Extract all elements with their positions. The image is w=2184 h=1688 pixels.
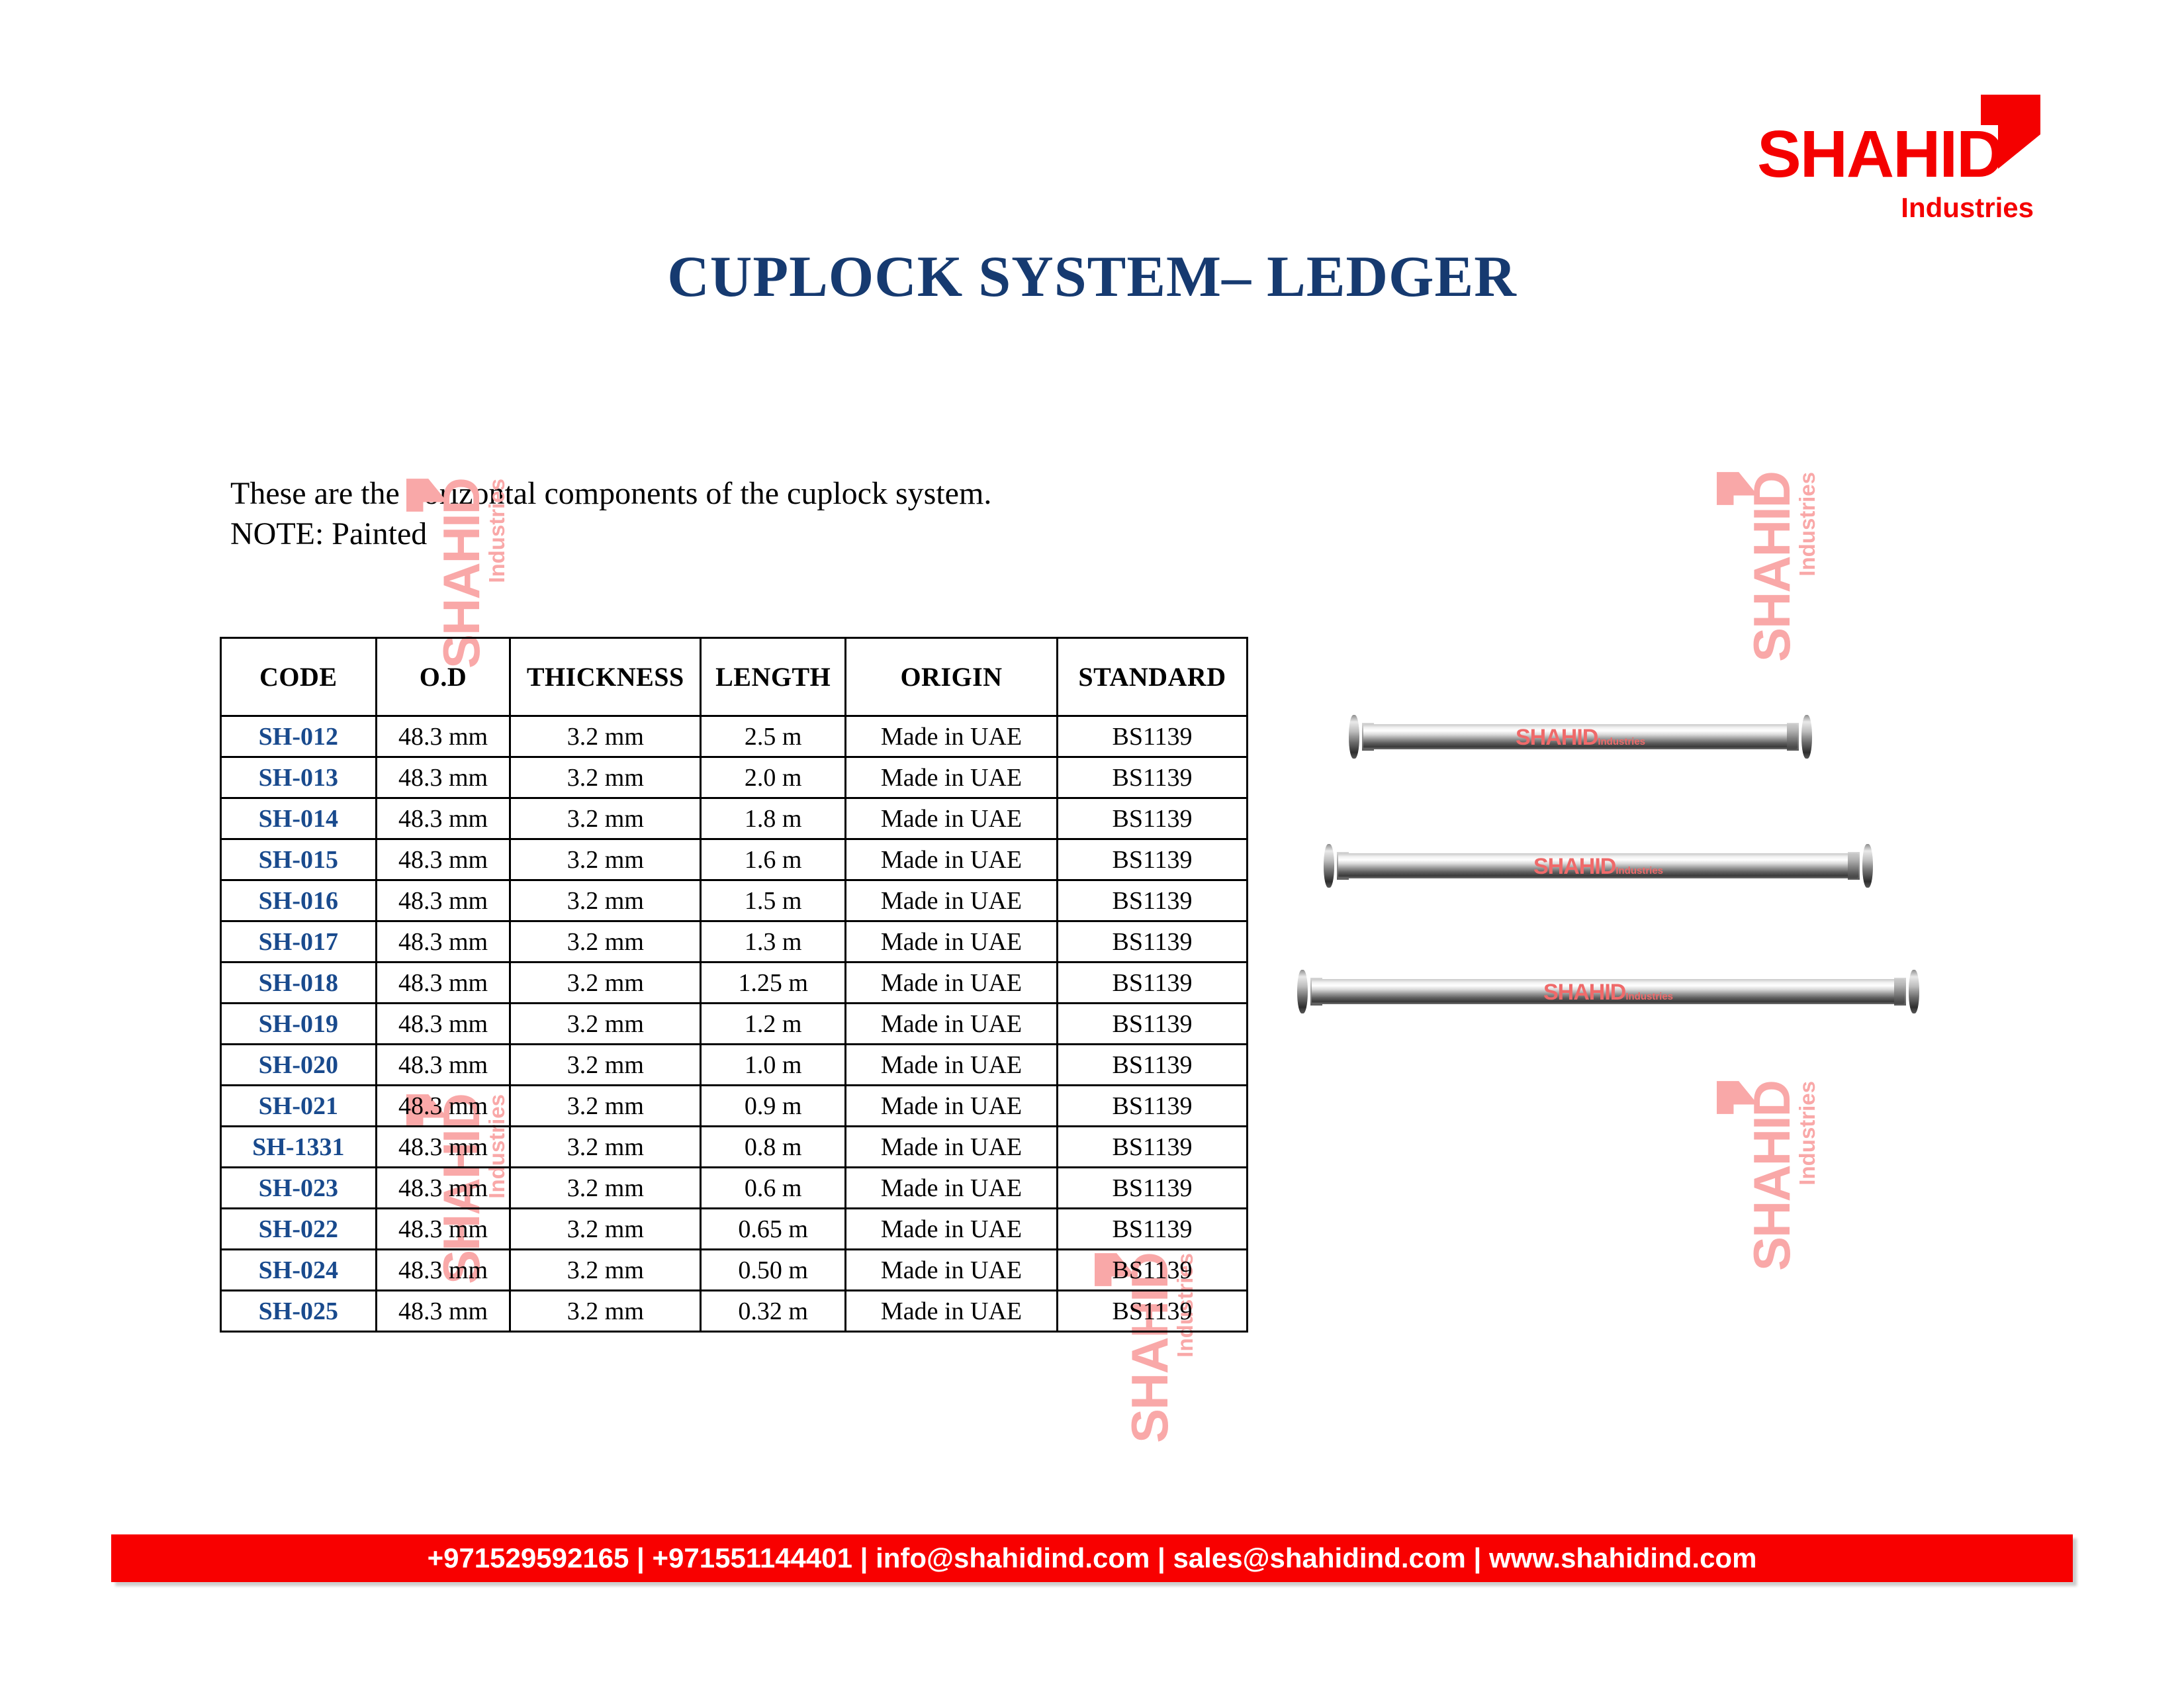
standard-cell: BS1139 [1058, 1045, 1248, 1086]
table-row: SH-01248.3 mm3.2 mm2.5 mMade in UAEBS113… [221, 716, 1248, 757]
table-header-row: CODE O.D THICKNESS LENGTH ORIGIN STANDAR… [221, 638, 1248, 716]
origin-cell: Made in UAE [846, 757, 1058, 798]
standard-cell: BS1139 [1058, 798, 1248, 839]
watermark-wordmark: SHAHID [1747, 472, 1796, 662]
od-cell: 48.3 mm [376, 1168, 510, 1209]
od-cell: 48.3 mm [376, 880, 510, 921]
thickness-cell: 3.2 mm [510, 757, 701, 798]
origin-cell: Made in UAE [846, 1045, 1058, 1086]
length-cell: 0.9 m [701, 1086, 846, 1127]
origin-cell: Made in UAE [846, 798, 1058, 839]
standard-cell: BS1139 [1058, 921, 1248, 962]
product-image-ledger-short: SHAHIDIndustries [1349, 715, 1812, 760]
od-cell: 48.3 mm [376, 1209, 510, 1250]
code-cell: SH-014 [221, 798, 377, 839]
thickness-cell: 3.2 mm [510, 798, 701, 839]
code-cell: SH-018 [221, 962, 377, 1004]
ledger-end-cap-left [1297, 970, 1308, 1013]
table-body: SH-01248.3 mm3.2 mm2.5 mMade in UAEBS113… [221, 716, 1248, 1332]
ledger-collar-right [1787, 723, 1799, 751]
table-row: SH-02248.3 mm3.2 mm0.65 mMade in UAEBS11… [221, 1209, 1248, 1250]
standard-cell: BS1139 [1058, 1086, 1248, 1127]
thickness-cell: 3.2 mm [510, 716, 701, 757]
column-header-origin: ORIGIN [846, 638, 1058, 716]
code-cell: SH-019 [221, 1004, 377, 1045]
thickness-cell: 3.2 mm [510, 880, 701, 921]
intro-text: These are the horizontal components of t… [230, 473, 991, 555]
origin-cell: Made in UAE [846, 839, 1058, 880]
product-image-group: SHAHIDIndustriesSHAHIDIndustriesSHAHIDIn… [1297, 715, 2091, 1112]
column-header-standard: STANDARD [1058, 638, 1248, 716]
table-row: SH-01848.3 mm3.2 mm1.25 mMade in UAEBS11… [221, 962, 1248, 1004]
length-cell: 1.5 m [701, 880, 846, 921]
contact-footer-bar: +971529592165 | +971551144401 | info@sha… [111, 1534, 2073, 1582]
length-cell: 1.8 m [701, 798, 846, 839]
ledger-collar-right [1894, 978, 1906, 1006]
origin-cell: Made in UAE [846, 1004, 1058, 1045]
ledger-end-cap-right [1862, 844, 1873, 888]
thickness-cell: 3.2 mm [510, 1291, 701, 1332]
length-cell: 0.8 m [701, 1127, 846, 1168]
ledger-end-cap-left [1349, 715, 1359, 759]
table-row: SH-01548.3 mm3.2 mm1.6 mMade in UAEBS113… [221, 839, 1248, 880]
logo-wordmark: SHAHID [1757, 121, 2003, 187]
column-header-thickness: THICKNESS [510, 638, 701, 716]
thickness-cell: 3.2 mm [510, 839, 701, 880]
contact-footer-text: +971529592165 | +971551144401 | info@sha… [428, 1542, 1757, 1574]
code-cell: SH-1331 [221, 1127, 377, 1168]
thickness-cell: 3.2 mm [510, 1086, 701, 1127]
standard-cell: BS1139 [1058, 1209, 1248, 1250]
table-row: SH-02548.3 mm3.2 mm0.32 mMade in UAEBS11… [221, 1291, 1248, 1332]
thickness-cell: 3.2 mm [510, 1004, 701, 1045]
od-cell: 48.3 mm [376, 1086, 510, 1127]
table-row: SH-01748.3 mm3.2 mm1.3 mMade in UAEBS113… [221, 921, 1248, 962]
standard-cell: BS1139 [1058, 1127, 1248, 1168]
code-cell: SH-013 [221, 757, 377, 798]
code-cell: SH-016 [221, 880, 377, 921]
length-cell: 1.2 m [701, 1004, 846, 1045]
origin-cell: Made in UAE [846, 1250, 1058, 1291]
thickness-cell: 3.2 mm [510, 962, 701, 1004]
origin-cell: Made in UAE [846, 962, 1058, 1004]
thickness-cell: 3.2 mm [510, 1250, 701, 1291]
table-row: SH-01348.3 mm3.2 mm2.0 mMade in UAEBS113… [221, 757, 1248, 798]
length-cell: 0.32 m [701, 1291, 846, 1332]
od-cell: 48.3 mm [376, 757, 510, 798]
thickness-cell: 3.2 mm [510, 1045, 701, 1086]
origin-cell: Made in UAE [846, 1086, 1058, 1127]
length-cell: 0.65 m [701, 1209, 846, 1250]
product-image-ledger-long: SHAHIDIndustries [1297, 970, 1919, 1015]
code-cell: SH-015 [221, 839, 377, 880]
ledger-tube [1338, 853, 1858, 878]
table-row: SH-02348.3 mm3.2 mm0.6 mMade in UAEBS113… [221, 1168, 1248, 1209]
thickness-cell: 3.2 mm [510, 1127, 701, 1168]
length-cell: 2.0 m [701, 757, 846, 798]
origin-cell: Made in UAE [846, 1209, 1058, 1250]
logo-tagline: Industries [1901, 192, 2034, 224]
origin-cell: Made in UAE [846, 1291, 1058, 1332]
origin-cell: Made in UAE [846, 1168, 1058, 1209]
od-cell: 48.3 mm [376, 1127, 510, 1168]
table-row: SH-02448.3 mm3.2 mm0.50 mMade in UAEBS11… [221, 1250, 1248, 1291]
standard-cell: BS1139 [1058, 1291, 1248, 1332]
watermark-arrow-icon [1717, 469, 1758, 508]
column-header-code: CODE [221, 638, 377, 716]
company-logo: SHAHID Industries [1757, 109, 2035, 232]
od-cell: 48.3 mm [376, 1250, 510, 1291]
intro-line-2: NOTE: Painted [230, 514, 991, 554]
code-cell: SH-023 [221, 1168, 377, 1209]
thickness-cell: 3.2 mm [510, 1209, 701, 1250]
standard-cell: BS1139 [1058, 839, 1248, 880]
length-cell: 1.25 m [701, 962, 846, 1004]
watermark-tagline: Industries [1796, 472, 1818, 662]
table-row: SH-01448.3 mm3.2 mm1.8 mMade in UAEBS113… [221, 798, 1248, 839]
standard-cell: BS1139 [1058, 716, 1248, 757]
code-cell: SH-021 [221, 1086, 377, 1127]
length-cell: 0.6 m [701, 1168, 846, 1209]
length-cell: 1.6 m [701, 839, 846, 880]
origin-cell: Made in UAE [846, 921, 1058, 962]
thickness-cell: 3.2 mm [510, 921, 701, 962]
standard-cell: BS1139 [1058, 962, 1248, 1004]
standard-cell: BS1139 [1058, 880, 1248, 921]
code-cell: SH-020 [221, 1045, 377, 1086]
table-row: SH-02148.3 mm3.2 mm0.9 mMade in UAEBS113… [221, 1086, 1248, 1127]
od-cell: 48.3 mm [376, 962, 510, 1004]
origin-cell: Made in UAE [846, 716, 1058, 757]
length-cell: 1.3 m [701, 921, 846, 962]
table-row: SH-02048.3 mm3.2 mm1.0 mMade in UAEBS113… [221, 1045, 1248, 1086]
ledger-tube [1363, 724, 1797, 749]
ledger-tube [1312, 979, 1905, 1004]
standard-cell: BS1139 [1058, 1168, 1248, 1209]
od-cell: 48.3 mm [376, 839, 510, 880]
logo-arrow-icon [1981, 95, 2040, 169]
length-cell: 1.0 m [701, 1045, 846, 1086]
origin-cell: Made in UAE [846, 1127, 1058, 1168]
ledger-end-cap-left [1324, 844, 1334, 888]
product-image-ledger-medium: SHAHIDIndustries [1324, 844, 1873, 889]
ledger-collar-right [1848, 852, 1860, 880]
code-cell: SH-025 [221, 1291, 377, 1332]
page-title: CUPLOCK SYSTEM– LEDGER [0, 244, 2184, 310]
thickness-cell: 3.2 mm [510, 1168, 701, 1209]
intro-line-1: These are the horizontal components of t… [230, 473, 991, 514]
od-cell: 48.3 mm [376, 1045, 510, 1086]
od-cell: 48.3 mm [376, 1004, 510, 1045]
ledger-end-cap-right [1909, 970, 1919, 1013]
table-row: SH-01948.3 mm3.2 mm1.2 mMade in UAEBS113… [221, 1004, 1248, 1045]
od-cell: 48.3 mm [376, 716, 510, 757]
length-cell: 2.5 m [701, 716, 846, 757]
od-cell: 48.3 mm [376, 1291, 510, 1332]
length-cell: 0.50 m [701, 1250, 846, 1291]
od-cell: 48.3 mm [376, 921, 510, 962]
table-row: SH-01648.3 mm3.2 mm1.5 mMade in UAEBS113… [221, 880, 1248, 921]
ledger-end-cap-right [1801, 715, 1812, 759]
standard-cell: BS1139 [1058, 1250, 1248, 1291]
code-cell: SH-017 [221, 921, 377, 962]
standard-cell: BS1139 [1058, 757, 1248, 798]
column-header-od: O.D [376, 638, 510, 716]
od-cell: 48.3 mm [376, 798, 510, 839]
code-cell: SH-022 [221, 1209, 377, 1250]
standard-cell: BS1139 [1058, 1004, 1248, 1045]
table-row: SH-133148.3 mm3.2 mm0.8 mMade in UAEBS11… [221, 1127, 1248, 1168]
origin-cell: Made in UAE [846, 880, 1058, 921]
code-cell: SH-012 [221, 716, 377, 757]
code-cell: SH-024 [221, 1250, 377, 1291]
column-header-length: LENGTH [701, 638, 846, 716]
watermark-logo: SHAHIDIndustries [1747, 472, 1818, 662]
specification-table: CODE O.D THICKNESS LENGTH ORIGIN STANDAR… [220, 637, 1248, 1333]
